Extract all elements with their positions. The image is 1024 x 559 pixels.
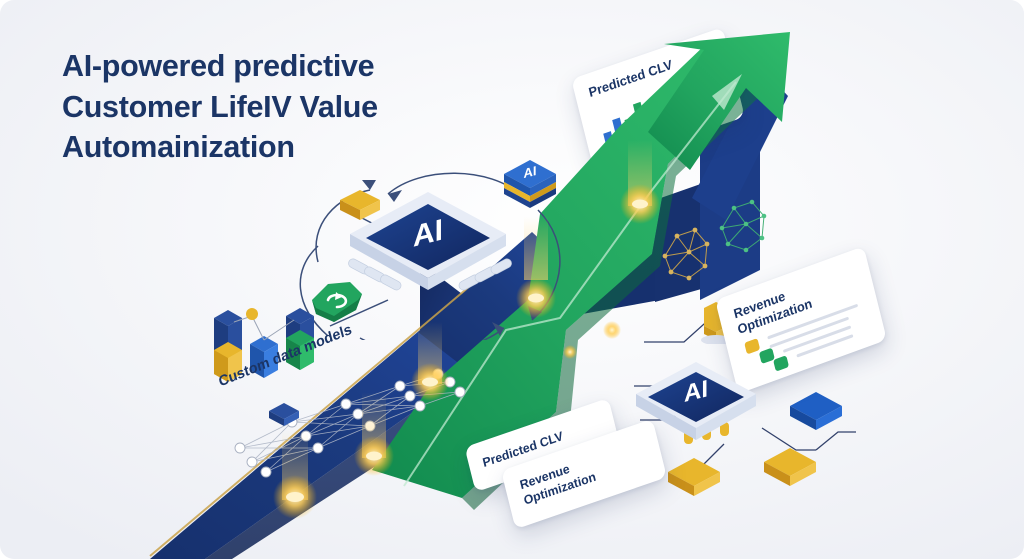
ai-badge-small: AI: [500, 156, 562, 212]
glow-node: [411, 322, 449, 401]
glow-node: [354, 392, 394, 476]
cube-gold-orbit: [336, 186, 386, 228]
title-line-1: AI-powered predictive: [62, 46, 482, 87]
swatch: [773, 355, 789, 371]
page-title: AI-powered predictive Customer LifeIV Va…: [62, 46, 482, 168]
glow-node: [273, 430, 317, 519]
glow-node: [620, 140, 660, 224]
swatch: [744, 338, 760, 354]
title-line-3: Automainization: [62, 127, 482, 168]
cube-gold-right: [760, 442, 822, 492]
cube-blue-small: [268, 400, 302, 430]
title-line-2: Customer LifeIV Value: [62, 87, 482, 128]
cube-blue: [786, 386, 848, 436]
illustration-canvas: AI AI AI: [0, 0, 1024, 559]
glow-node: [516, 216, 556, 318]
ai-chip-secondary: AI: [628, 356, 768, 464]
glow-node-small: [563, 345, 577, 359]
